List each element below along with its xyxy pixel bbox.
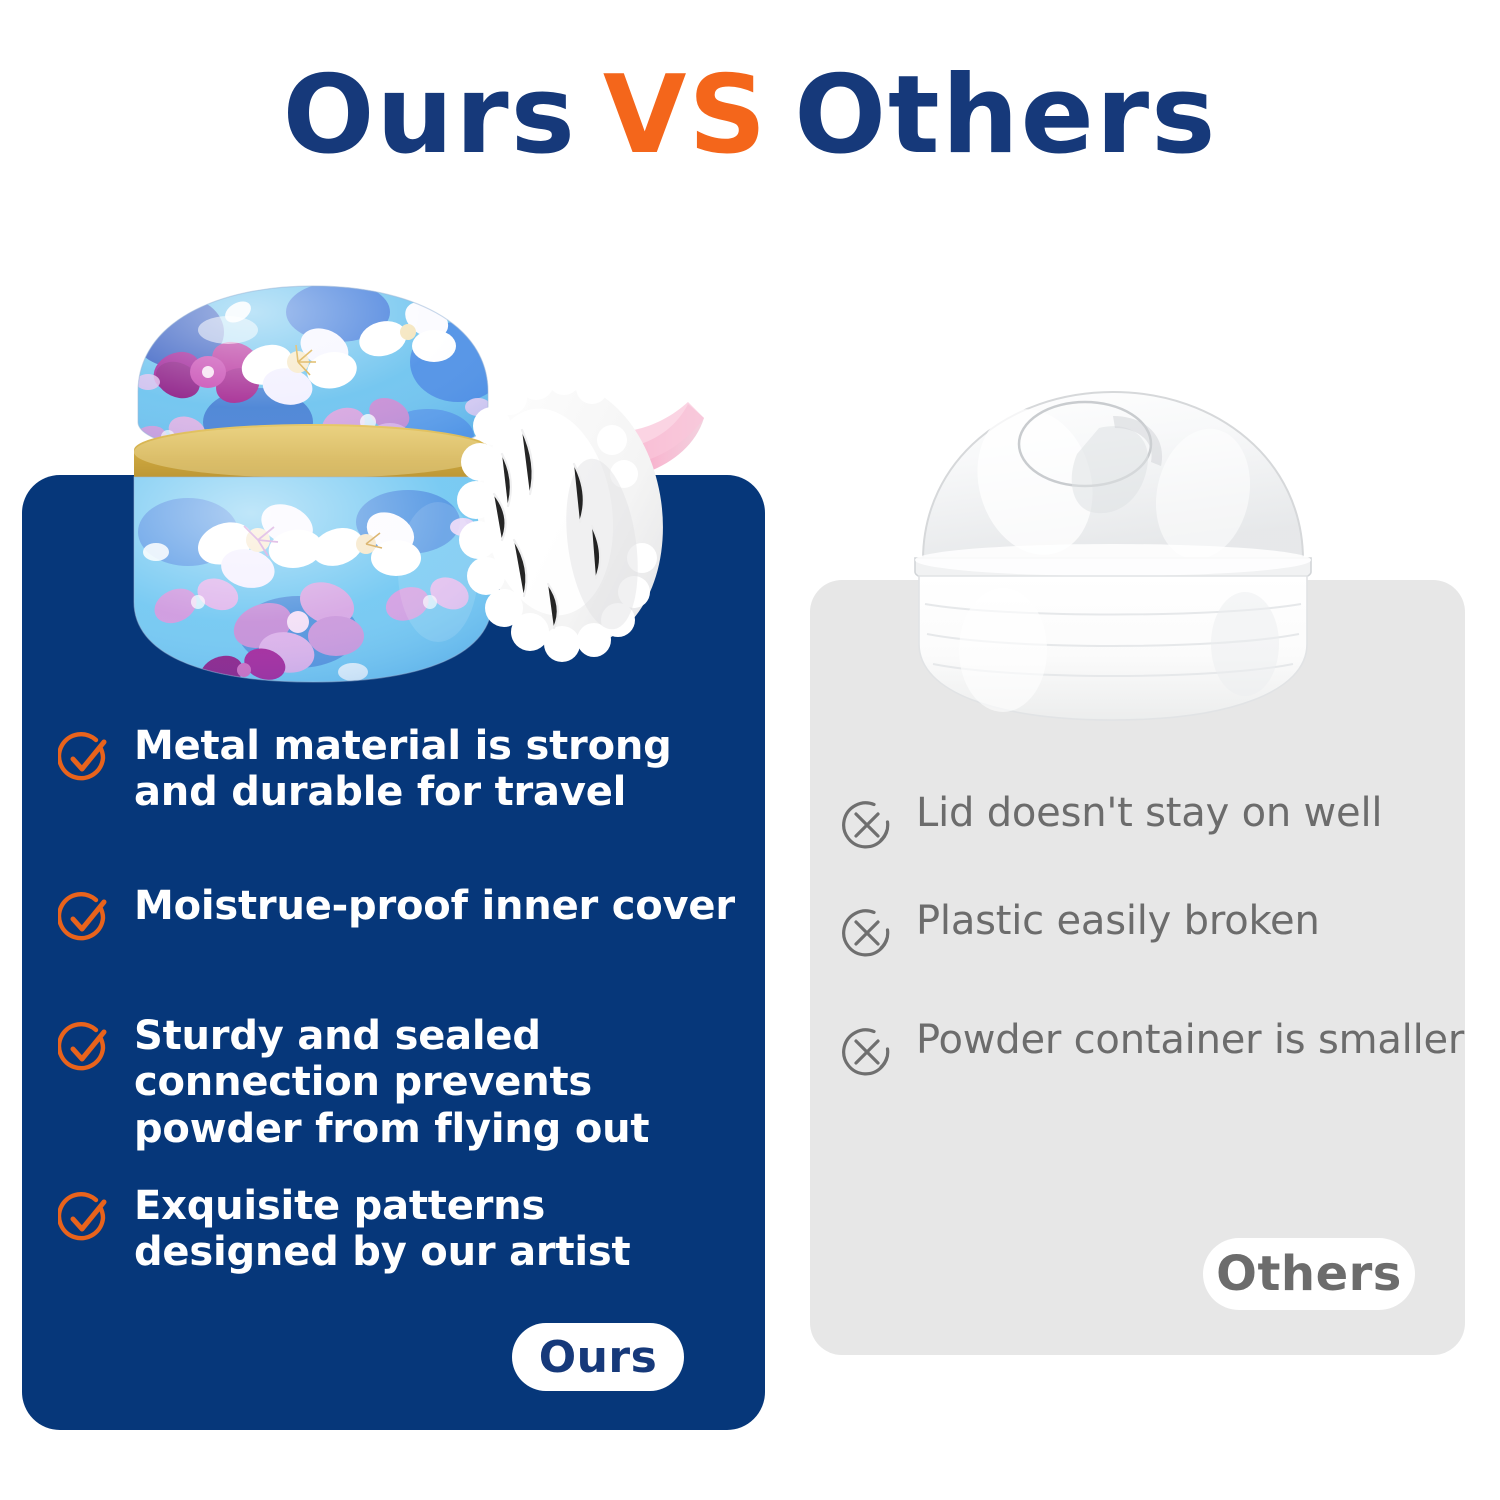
list-item-label: Moistrue-proof inner cover <box>134 883 735 929</box>
page-title: OursVSOthers <box>0 62 1500 170</box>
check-circle-icon <box>58 731 112 785</box>
title-word-ours: Ours <box>283 53 577 178</box>
clear-plastic-powder-container-image <box>885 372 1340 732</box>
list-item: Plastic easily broken <box>840 898 1480 960</box>
powder-puff-image <box>452 344 742 684</box>
list-item-label: Exquisite patterns designed by our artis… <box>134 1183 758 1276</box>
others-badge: Others <box>1203 1238 1415 1310</box>
check-circle-icon <box>58 1191 112 1245</box>
list-item: Sturdy and sealed connection prevents po… <box>58 1013 758 1152</box>
list-item: Powder container is smaller <box>840 1017 1480 1079</box>
ours-badge: Ours <box>512 1323 684 1391</box>
list-item-label: Plastic easily broken <box>916 898 1320 944</box>
puff-body <box>457 361 679 662</box>
x-circle-icon <box>840 798 894 852</box>
list-item: Exquisite patterns designed by our artis… <box>58 1183 758 1276</box>
list-item-label: Powder container is smaller <box>916 1017 1464 1063</box>
x-circle-icon <box>840 906 894 960</box>
list-item-label: Metal material is strong and durable for… <box>134 723 758 816</box>
list-item: Metal material is strong and durable for… <box>58 723 758 816</box>
check-circle-icon <box>58 1021 112 1075</box>
list-item-label: Sturdy and sealed connection prevents po… <box>134 1013 758 1152</box>
x-circle-icon <box>840 1025 894 1079</box>
check-circle-icon <box>58 891 112 945</box>
list-item: Moistrue-proof inner cover <box>58 883 758 945</box>
title-word-others: Others <box>794 53 1217 178</box>
list-item-label: Lid doesn't stay on well <box>916 790 1382 836</box>
list-item: Lid doesn't stay on well <box>840 790 1480 852</box>
title-word-vs: VS <box>603 53 768 178</box>
